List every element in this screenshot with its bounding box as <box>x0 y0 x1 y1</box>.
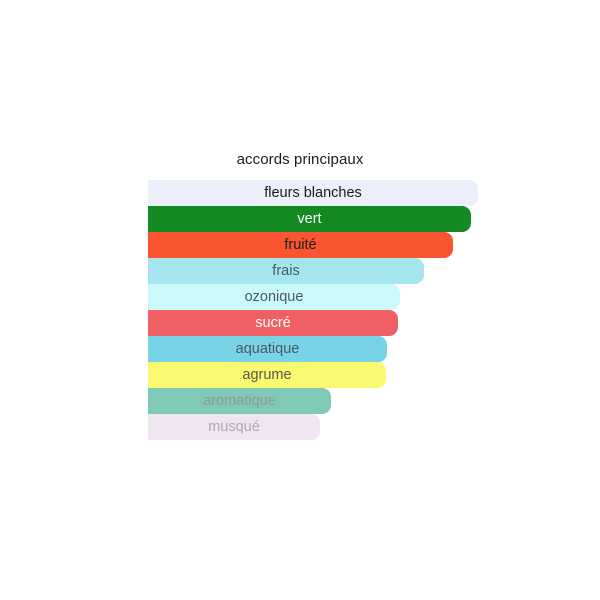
accord-row[interactable]: agrume <box>148 362 488 388</box>
accord-row[interactable]: ozonique <box>148 284 488 310</box>
accord-row[interactable]: musqué <box>148 414 488 440</box>
accord-bar-fill <box>148 284 400 310</box>
accord-row[interactable]: vert <box>148 206 488 232</box>
accord-bar-fill <box>148 362 386 388</box>
accord-bar-fill <box>148 180 478 206</box>
accord-bar-fill <box>148 232 453 258</box>
main-accords-chart: accords principaux fleurs blanchesvertfr… <box>0 0 600 600</box>
accord-row[interactable]: fruité <box>148 232 488 258</box>
accord-bar-fill <box>148 310 398 336</box>
accord-row[interactable]: aquatique <box>148 336 488 362</box>
page-title: accords principaux <box>0 151 600 168</box>
accord-row[interactable]: frais <box>148 258 488 284</box>
accord-bar-fill <box>148 258 424 284</box>
accord-bar-fill <box>148 336 387 362</box>
accord-bar-fill <box>148 206 471 232</box>
accord-row[interactable]: aromatique <box>148 388 488 414</box>
accord-bar-fill <box>148 414 320 440</box>
accord-bar-list: fleurs blanchesvertfruitéfraisozoniquesu… <box>148 180 488 440</box>
accord-row[interactable]: fleurs blanches <box>148 180 488 206</box>
accord-bar-fill <box>148 388 331 414</box>
accord-row[interactable]: sucré <box>148 310 488 336</box>
